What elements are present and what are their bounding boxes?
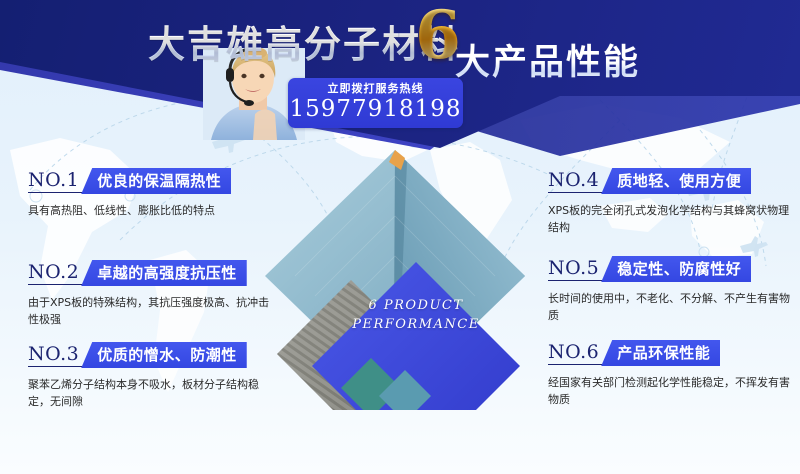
feature-description: 长时间的使用中，不老化、不分解、不产生有害物质 [548, 290, 793, 324]
feature-description: 由于XPS板的特殊结构，其抗压强度极高、抗冲击性极强 [28, 294, 273, 328]
feature-description: XPS板的完全闭孔式发泡化学结构与其蜂窝状物理结构 [548, 202, 793, 236]
feature-item-4: NO.4 质地轻、使用方便 XPS板的完全闭孔式发泡化学结构与其蜂窝状物理结构 [548, 168, 800, 236]
feature-number: NO.5 [548, 256, 603, 281]
feature-number: NO.2 [28, 260, 83, 285]
page-title: 大吉雄高分子材料 [148, 14, 460, 68]
title-number-six: 6 [415, 2, 461, 68]
feature-number: NO.3 [28, 342, 83, 367]
feature-item-5: NO.5 稳定性、防腐性好 长时间的使用中，不老化、不分解、不产生有害物质 [548, 256, 800, 324]
feature-title: 卓越的高强度抗压性 [81, 260, 247, 286]
feature-heading: NO.4 质地轻、使用方便 [548, 168, 800, 195]
feature-description: 具有高热阻、低线性、膨胀比低的特点 [28, 202, 273, 219]
feature-item-1: NO.1 优良的保温隔热性 具有高热阻、低线性、膨胀比低的特点 [28, 168, 280, 219]
feature-number: NO.4 [548, 168, 603, 193]
feature-title: 产品环保性能 [601, 340, 720, 366]
feature-title: 优质的憎水、防潮性 [81, 342, 247, 368]
feature-item-6: NO.6 产品环保性能 经国家有关部门检测起化学性能稳定，不挥发有害物质 [548, 340, 800, 408]
feature-heading: NO.5 稳定性、防腐性好 [548, 256, 800, 283]
hotline-box[interactable]: 立即拨打服务热线 15977918198 [288, 78, 463, 128]
center-diamond-artwork [255, 140, 545, 410]
feature-heading: NO.1 优良的保温隔热性 [28, 168, 280, 195]
diamond-svg [255, 140, 545, 410]
feature-title: 稳定性、防腐性好 [601, 256, 751, 282]
title-subtitle: 大产品性能 [455, 34, 640, 85]
hotline-label: 立即拨打服务热线 [288, 82, 463, 96]
feature-title: 优良的保温隔热性 [81, 168, 231, 194]
feature-number: NO.6 [548, 340, 603, 365]
feature-item-3: NO.3 优质的憎水、防潮性 聚苯乙烯分子结构本身不吸水，板材分子结构稳定，无间… [28, 342, 280, 410]
feature-title: 质地轻、使用方便 [601, 168, 751, 194]
diamond-caption: 6 PRODUCT PERFORMANCE [351, 296, 481, 334]
feature-number: NO.1 [28, 168, 83, 193]
feature-description: 聚苯乙烯分子结构本身不吸水，板材分子结构稳定，无间隙 [28, 376, 273, 410]
feature-heading: NO.3 优质的憎水、防潮性 [28, 342, 280, 369]
feature-heading: NO.2 卓越的高强度抗压性 [28, 260, 280, 287]
feature-heading: NO.6 产品环保性能 [548, 340, 800, 367]
feature-item-2: NO.2 卓越的高强度抗压性 由于XPS板的特殊结构，其抗压强度极高、抗冲击性极… [28, 260, 280, 328]
hotline-number: 15977918198 [288, 96, 463, 123]
feature-description: 经国家有关部门检测起化学性能稳定，不挥发有害物质 [548, 374, 793, 408]
promo-banner: 大吉雄高分子材料 6 大产品性能 [0, 0, 800, 474]
